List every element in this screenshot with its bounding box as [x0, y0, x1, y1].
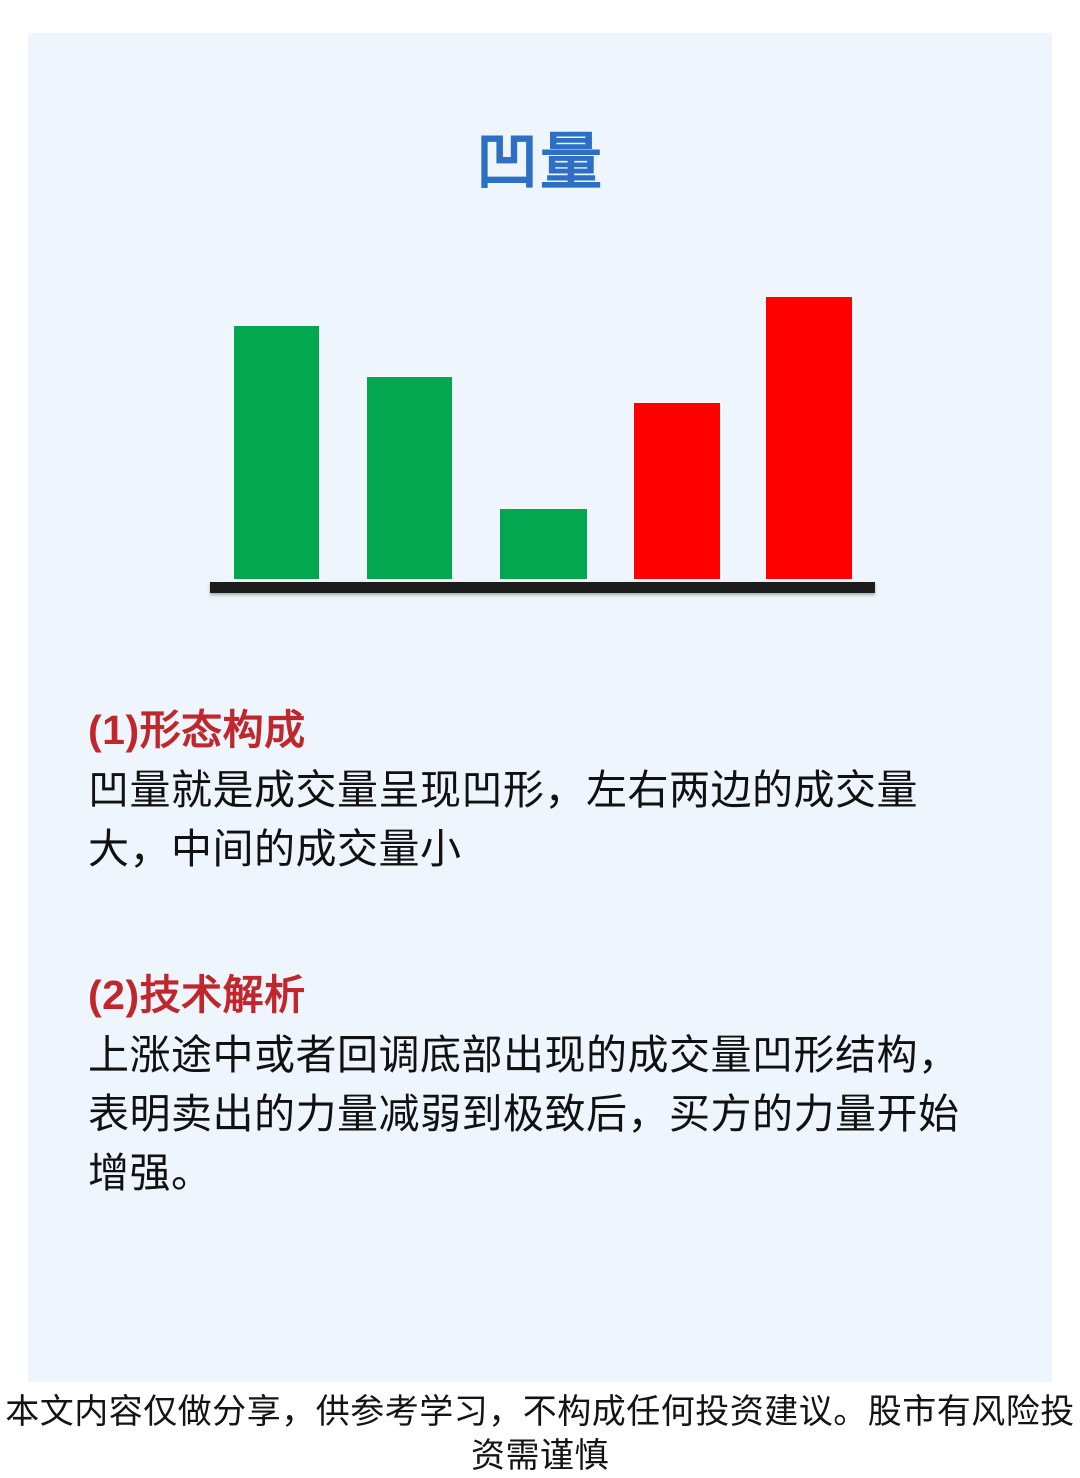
chart-bar-3	[500, 509, 587, 579]
section-form-composition: (1)形态构成 凹量就是成交量呈现凹形，左右两边的成交量 大，中间的成交量小	[88, 705, 1008, 879]
section-2-body: 上涨途中或者回调底部出现的成交量凹形结构， 表明卖出的力量减弱到极致后，买方的力…	[88, 1026, 1008, 1203]
section-technical-analysis: (2)技术解析 上涨途中或者回调底部出现的成交量凹形结构， 表明卖出的力量减弱到…	[88, 970, 1008, 1203]
page-title: 凹量	[28, 128, 1052, 198]
disclaimer-text: 本文内容仅做分享，供参考学习，不构成任何投资建议。股市有风险投资需谨慎	[0, 1390, 1080, 1478]
section-2-heading: (2)技术解析	[88, 970, 1008, 1020]
chart-bar-4	[634, 403, 720, 579]
chart-bar-1	[234, 326, 319, 579]
chart-bar-2	[367, 377, 452, 579]
volume-bar-chart	[210, 283, 880, 593]
content-card: 凹量 (1)形态构成 凹量就是成交量呈现凹形，左右两边的成交量 大，中间的成交量…	[28, 33, 1052, 1382]
section-1-heading: (1)形态构成	[88, 705, 1008, 755]
chart-baseline	[210, 582, 875, 593]
chart-bar-5	[766, 297, 852, 579]
section-1-body: 凹量就是成交量呈现凹形，左右两边的成交量 大，中间的成交量小	[88, 761, 1008, 879]
